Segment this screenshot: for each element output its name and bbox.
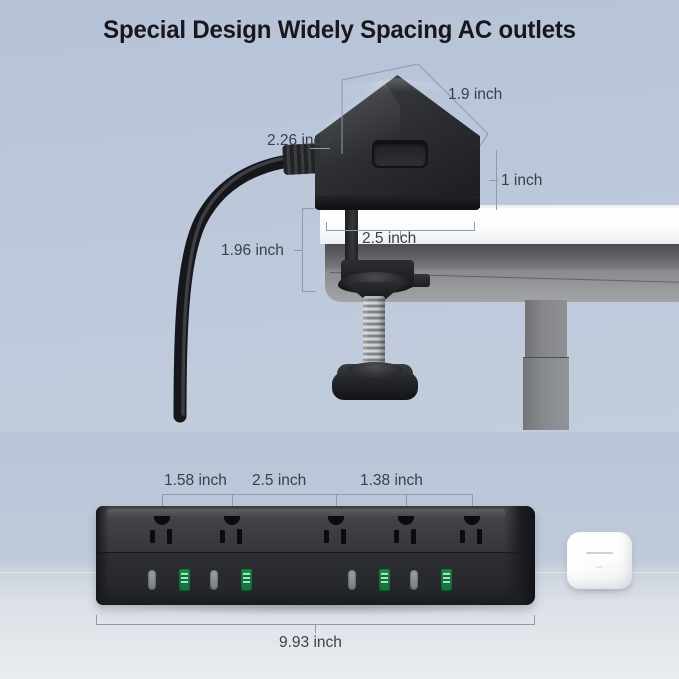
outlet-slot-hot — [477, 529, 482, 544]
outlet-slot-neutral — [150, 530, 155, 543]
outlet-ground-hole — [154, 516, 170, 525]
dimension-bracket-spacing-middle — [232, 494, 336, 495]
dimension-leader-clamp — [294, 250, 303, 251]
outlet-slot-neutral — [394, 530, 399, 543]
dimension-label-head-diagonal: 1.9 inch — [448, 86, 502, 104]
power-cable — [168, 152, 333, 424]
dimension-label-total-length: 9.93 inch — [279, 634, 342, 652]
outlet-ground-hole — [328, 516, 344, 525]
dimension-tick-total-left — [96, 615, 97, 625]
usb-a-port-4[interactable] — [441, 569, 452, 591]
outlet-slot-neutral — [460, 530, 465, 543]
usb-a-port-1[interactable] — [179, 569, 190, 591]
usb-c-port-3[interactable] — [348, 570, 356, 590]
usb-c-port-2[interactable] — [210, 570, 218, 590]
dimension-bracket-spacing-left — [162, 494, 232, 495]
dimension-line-head-diagonal — [340, 62, 540, 182]
dimension-label-desk-thickness: 2.5 inch — [362, 230, 416, 248]
ac-outlet-5[interactable] — [452, 516, 492, 546]
dimension-tick-head-height — [489, 180, 498, 181]
page-title: Special Design Widely Spacing AC outlets — [14, 16, 666, 45]
outlet-slot-neutral — [220, 530, 225, 543]
infographic-canvas: Special Design Widely Spacing AC outlets — [0, 0, 679, 679]
clamp-head-base — [315, 196, 480, 210]
earbuds-case-lid-seam — [586, 552, 613, 554]
power-strip — [96, 506, 535, 605]
ac-outlet-2[interactable] — [212, 516, 252, 546]
outlet-ground-hole — [398, 516, 414, 525]
desk-leg-upper — [525, 300, 567, 360]
outlet-slot-hot — [167, 529, 172, 544]
dimension-label-head-width: 2.26 inch — [267, 132, 330, 150]
dimension-tick-desk-right — [474, 222, 475, 231]
outlet-ground-hole — [464, 516, 480, 525]
dimension-label-clamp-opening: 1.96 inch — [221, 242, 284, 260]
usb-a-port-2[interactable] — [241, 569, 252, 591]
power-strip-right-end — [504, 506, 535, 605]
dimension-tick-desk-left — [326, 222, 327, 231]
outlet-slot-neutral — [324, 530, 329, 543]
usb-c-port-1[interactable] — [148, 570, 156, 590]
outlet-slot-hot — [411, 529, 416, 544]
power-strip-left-end — [96, 506, 109, 605]
outlet-slot-hot — [237, 529, 242, 544]
dimension-label-spacing-middle: 2.5 inch — [252, 472, 306, 490]
earbuds-charging-case — [567, 532, 632, 589]
dimension-label-spacing-right: 1.38 inch — [360, 472, 423, 490]
dimension-bracket-spacing-right-a — [336, 494, 406, 495]
clamp-knob-top — [348, 362, 402, 378]
outlet-slot-hot — [341, 529, 346, 544]
dimension-leader-total — [315, 624, 316, 633]
ac-outlet-1[interactable] — [142, 516, 182, 546]
dimension-label-spacing-left: 1.58 inch — [164, 472, 227, 490]
outlet-ground-hole — [224, 516, 240, 525]
dimension-tick-total-right — [534, 615, 535, 625]
dimension-bracket-spacing-right-b — [406, 494, 472, 495]
ac-outlet-4[interactable] — [386, 516, 426, 546]
dimension-label-head-height: 1 inch — [501, 172, 542, 190]
dimension-tick-clamp-bottom — [302, 291, 316, 292]
power-strip-seam — [96, 552, 535, 553]
desk-leg-lower — [523, 358, 569, 430]
usb-c-port-4[interactable] — [410, 570, 418, 590]
ac-outlet-3[interactable] — [316, 516, 356, 546]
usb-a-port-3[interactable] — [379, 569, 390, 591]
dimension-tick-clamp-top — [302, 208, 316, 209]
